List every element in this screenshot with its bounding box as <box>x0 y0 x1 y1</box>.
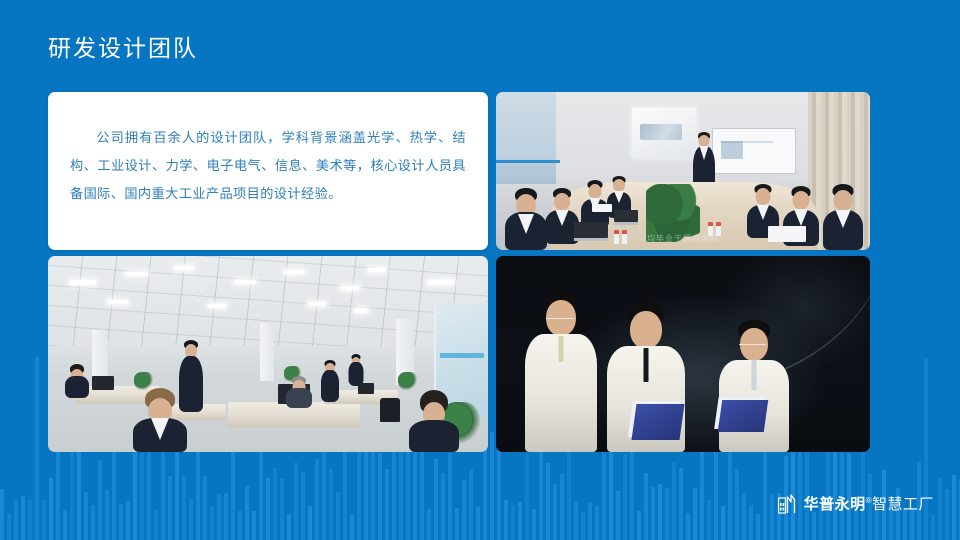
engineer-tie <box>644 348 649 382</box>
decorative-bar <box>154 510 158 540</box>
decorative-bar <box>238 511 242 540</box>
decorative-bar <box>126 501 130 540</box>
ceiling-light <box>70 280 96 285</box>
decorative-bar <box>392 442 396 540</box>
ceiling-light <box>368 268 386 272</box>
decorative-bar <box>35 357 39 540</box>
decorative-bar <box>546 463 550 540</box>
office-worker-standing <box>320 360 340 402</box>
decorative-bar <box>294 463 298 540</box>
decorative-bar <box>301 472 305 540</box>
decorative-bar <box>588 503 592 540</box>
engineer-head <box>630 311 662 349</box>
decorative-bar <box>203 476 207 540</box>
decorative-bar <box>42 500 46 540</box>
decorative-bar <box>581 512 585 540</box>
decorative-bar <box>350 515 354 540</box>
hpwinner-monogram-icon <box>778 494 798 514</box>
logo-brand: 华普永明 <box>804 496 866 513</box>
decorative-bar <box>14 500 18 540</box>
eyeglasses-icon <box>546 318 574 322</box>
office-column <box>92 330 108 381</box>
decorative-bar <box>343 442 347 540</box>
decorative-bar <box>315 459 319 540</box>
office-chair <box>380 398 400 422</box>
decorative-bar <box>952 475 956 540</box>
photo-meeting-room: 均毕业于国内国防 <box>496 92 870 250</box>
worker-body <box>65 376 89 398</box>
whiteboard <box>712 128 796 174</box>
decorative-bar <box>105 490 109 540</box>
decorative-bar <box>728 450 732 540</box>
engineer-left <box>524 292 598 452</box>
photo-engineers <box>496 256 870 452</box>
decorative-bar <box>280 479 284 540</box>
decorative-bar <box>266 478 270 540</box>
decorative-bar <box>595 506 599 540</box>
engineer-right <box>718 320 790 452</box>
engineer-tie <box>559 336 564 362</box>
decorative-bar <box>91 505 95 540</box>
decorative-bar <box>63 510 67 540</box>
pendant-light <box>354 308 368 313</box>
ceiling-light <box>234 280 256 284</box>
decorative-bar <box>427 509 431 540</box>
decorative-bar <box>763 441 767 540</box>
document-paper <box>592 204 612 212</box>
decorative-bar <box>182 476 186 540</box>
decorative-bar <box>84 492 88 540</box>
ceiling-light <box>284 270 304 274</box>
blue-folder <box>631 404 684 440</box>
page-title: 研发设计团队 <box>48 33 198 63</box>
decorative-bar <box>140 453 144 540</box>
logo-wordmark: 华普永明®智慧工厂 <box>804 493 934 514</box>
description-card: 公司拥有百余人的设计团队，学科背景涵盖光学、热学、结构、工业设计、力学、电子电气… <box>48 92 488 250</box>
decorative-bar <box>217 494 221 540</box>
decorative-bar <box>0 489 4 540</box>
decorative-bar <box>441 473 445 540</box>
decorative-bar <box>364 450 368 540</box>
engineer-lanyard <box>752 360 757 390</box>
decorative-bar <box>245 486 249 540</box>
decorative-bar <box>525 454 529 540</box>
ceiling-light <box>126 272 148 276</box>
decorative-bar <box>308 506 312 540</box>
office-column <box>260 323 274 382</box>
office-plant <box>398 372 418 390</box>
decorative-bar <box>504 500 508 540</box>
decorative-bar <box>448 453 452 540</box>
decorative-bar <box>938 478 942 540</box>
decorative-bar <box>462 480 466 540</box>
decorative-bar <box>658 484 662 540</box>
decorative-bar <box>252 511 256 540</box>
engineers-image <box>496 256 870 452</box>
decorative-bar <box>147 442 151 540</box>
office-worker-standing <box>348 354 364 386</box>
decorative-bar <box>98 460 102 540</box>
decorative-bar <box>672 463 676 540</box>
decorative-bar <box>168 476 172 540</box>
decorative-bar <box>812 512 816 540</box>
ceiling-light <box>108 300 128 304</box>
decorative-bar <box>616 491 620 540</box>
decorative-bar <box>273 468 277 540</box>
decorative-bar <box>511 505 515 540</box>
photo-office <box>48 256 488 452</box>
decorative-bar <box>637 511 641 540</box>
decorative-bar <box>287 514 291 540</box>
decorative-bar <box>420 444 424 540</box>
decorative-bar <box>770 494 774 540</box>
worker-body <box>349 362 364 386</box>
decorative-bar <box>735 469 739 540</box>
decorative-bar <box>231 443 235 540</box>
office-image <box>48 256 488 452</box>
ceiling-light <box>174 266 194 270</box>
description-paragraph: 公司拥有百余人的设计团队，学科背景涵盖光学、热学、结构、工业设计、力学、电子电气… <box>70 124 466 208</box>
decorative-bar <box>434 459 438 540</box>
decorative-bar <box>532 509 536 540</box>
decorative-bar <box>945 489 949 540</box>
ceiling-light <box>208 304 226 308</box>
blue-folder <box>718 400 768 432</box>
decorative-bar <box>476 507 480 540</box>
decorative-bar <box>189 499 193 540</box>
office-worker-seated <box>64 364 90 398</box>
decorative-bar <box>21 496 25 540</box>
decorative-bar <box>385 469 389 540</box>
office-worker-seated <box>132 388 188 452</box>
ceiling-light <box>308 302 326 306</box>
slide-root: 研发设计团队 公司拥有百余人的设计团队，学科背景涵盖光学、热学、结构、工业设计、… <box>0 0 960 540</box>
photo-watermark: 均毕业于国内国防 <box>496 233 870 244</box>
attendee-head <box>834 190 853 211</box>
decorative-bar <box>707 500 711 540</box>
attendee-head <box>756 188 771 205</box>
decorative-bar <box>336 492 340 540</box>
decorative-bar <box>679 468 683 540</box>
office-worker-seated <box>286 376 312 408</box>
ceiling-light <box>340 286 360 290</box>
logo-subbrand: 智慧工厂 <box>872 496 934 513</box>
decorative-bar <box>224 493 228 540</box>
decorative-bar <box>693 488 697 540</box>
worker-body <box>409 420 459 452</box>
decorative-bar <box>210 507 214 540</box>
decorative-bar <box>28 500 32 540</box>
decorative-bar <box>553 484 557 540</box>
attendee-head <box>554 193 570 211</box>
decorative-bar <box>931 515 935 540</box>
decorative-bar <box>7 514 11 540</box>
attendee-head <box>589 184 602 199</box>
ceiling-light <box>428 280 454 285</box>
decorative-bar <box>651 487 655 540</box>
decorative-bar <box>574 501 578 540</box>
decorative-bar <box>49 478 53 540</box>
decorative-bar <box>455 508 459 540</box>
worker-body <box>321 370 339 402</box>
decorative-bar <box>119 504 123 540</box>
decorative-bar <box>329 469 333 540</box>
worker-body <box>286 388 312 408</box>
company-logo: 华普永明®智慧工厂 <box>778 493 934 514</box>
decorative-bar <box>623 454 627 540</box>
computer-monitor <box>92 376 114 390</box>
decorative-bar <box>749 505 753 540</box>
decorative-bar <box>756 514 760 540</box>
decorative-bar <box>742 493 746 540</box>
laptop <box>614 210 638 222</box>
decorative-bar <box>560 474 564 540</box>
projection-screen <box>632 108 696 158</box>
office-worker-seated <box>408 390 460 452</box>
meeting-door-accent-line <box>496 160 560 163</box>
attendee-head <box>793 191 810 210</box>
meeting-room-image: 均毕业于国内国防 <box>496 92 870 250</box>
decorative-bar <box>644 473 648 540</box>
eyeglasses-icon <box>739 344 766 348</box>
meeting-door-panel <box>496 92 556 184</box>
decorative-bar <box>518 502 522 540</box>
decorative-bar <box>686 513 690 540</box>
decorative-bar <box>721 506 725 540</box>
decorative-bar <box>469 469 473 540</box>
decorative-bar <box>378 453 382 540</box>
attendee-head <box>613 179 625 192</box>
decorative-bar <box>490 432 494 540</box>
decorative-bar <box>665 488 669 540</box>
